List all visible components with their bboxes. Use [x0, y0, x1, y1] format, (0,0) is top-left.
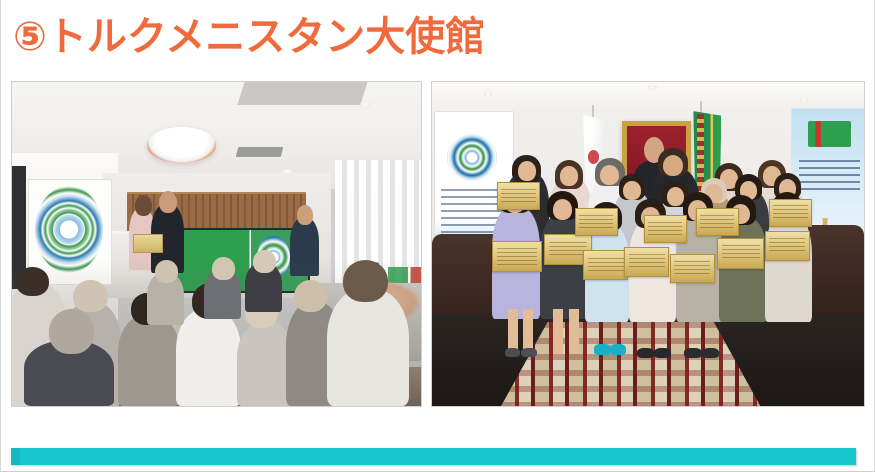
certificate: [644, 215, 687, 243]
photo-right-scene: [432, 82, 864, 406]
certificate: [492, 241, 542, 272]
certificate: [769, 199, 812, 227]
ceiling-vent: [236, 147, 284, 157]
audience-head: [16, 267, 49, 296]
child-shoe: [637, 348, 654, 358]
certificate: [696, 208, 739, 236]
staff-woman-head: [297, 205, 313, 225]
adult-head: [600, 165, 619, 185]
photo-left-scene: [12, 82, 421, 406]
certificate: [497, 182, 540, 210]
audience-head: [49, 309, 94, 354]
ceiling-panel: [237, 82, 367, 105]
presenter-woman-head: [135, 195, 152, 216]
adult-head: [518, 161, 536, 180]
certificate: [583, 250, 628, 280]
child-legs: [569, 309, 579, 354]
turkmenistan-flag-icon: [808, 121, 851, 147]
child-shoe: [610, 344, 626, 354]
child-head: [667, 187, 684, 206]
ceiling-light: [147, 127, 217, 163]
bottom-accent-bar-cap: [11, 448, 20, 465]
audience-head-cap: [155, 260, 177, 283]
adult-head: [560, 166, 578, 185]
downlight-icon: [360, 101, 371, 107]
certificate: [670, 254, 715, 284]
child-shoe: [702, 348, 719, 358]
audience-head-cap: [294, 280, 327, 312]
photo-right: [432, 82, 864, 406]
ambassador-head: [159, 191, 177, 213]
child-shoe: [505, 348, 521, 358]
child-shoe: [594, 344, 610, 354]
certificate: [133, 234, 164, 253]
photo-left: [12, 82, 421, 406]
certificate: [575, 208, 618, 236]
audience-person: [118, 315, 179, 406]
audience-head-cap: [212, 257, 234, 280]
certificate: [765, 231, 810, 261]
ambassador-head: [663, 155, 683, 176]
child-shoe: [521, 348, 537, 358]
certificate: [717, 238, 764, 269]
audience-head-cap: [73, 280, 108, 312]
child-legs: [553, 309, 563, 354]
child-head: [553, 199, 572, 220]
audience-head-cap: [253, 250, 275, 273]
child-shoe: [654, 348, 671, 358]
audience-person: [176, 309, 241, 406]
audience-head: [343, 260, 388, 302]
turkmenistan-emblem-icon: [447, 134, 497, 181]
certificate: [624, 247, 669, 277]
slide-root: ⑤トルクメニスタン大使館: [0, 0, 875, 472]
child-head: [623, 181, 640, 200]
child-shoe: [684, 348, 701, 358]
banner-right-text: [799, 160, 859, 196]
bottom-accent-bar: [11, 448, 856, 465]
audience-person-striped: [327, 289, 409, 406]
page-title: ⑤トルクメニスタン大使館: [13, 9, 773, 65]
japan-flag-sun-icon: [588, 150, 599, 164]
